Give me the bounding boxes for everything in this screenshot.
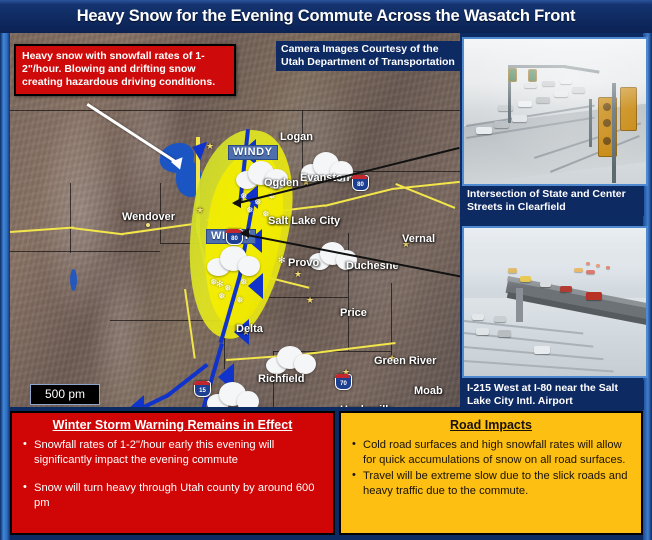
city-label-delta: Delta [236, 323, 263, 335]
windy-tag: WINDY [228, 145, 278, 160]
city-label-logan: Logan [280, 131, 313, 143]
header-bar: Heavy Snow for the Evening Commute Acros… [0, 0, 652, 33]
shield-cap [194, 381, 209, 385]
sevier-lake [70, 269, 77, 291]
shield-number: 80 [231, 236, 238, 242]
warning-bullet-list: Snowfall rates of 1-2"/hour early this e… [18, 438, 327, 510]
shield-number: 80 [357, 182, 364, 188]
snow-haze [464, 39, 646, 184]
shield-number: 70 [340, 381, 347, 387]
city-label-moab: Moab [414, 385, 443, 397]
city-label-salt-lake-city: Salt Lake City [268, 215, 340, 227]
valid-time-stamp: 500 pm [30, 384, 100, 405]
list-item: Snowfall rates of 1-2"/hour early this e… [18, 438, 327, 467]
city-label-wendover: Wendover [122, 211, 175, 223]
city-label-price: Price [340, 307, 367, 319]
vehicle [472, 314, 484, 320]
vehicle [476, 328, 489, 335]
shield-cap [226, 229, 241, 233]
overpass-pier [516, 288, 523, 322]
city-label-hanksville: Hanksville [340, 404, 394, 407]
snowflake-icon: ❅ [218, 291, 226, 302]
snow-cloud-icon [206, 245, 262, 277]
shield-number: 15 [199, 388, 206, 394]
list-item: Snow will turn heavy through Utah county… [18, 481, 327, 510]
snow-haze [464, 228, 646, 288]
list-item: Cold road surfaces and high snowfall rat… [347, 438, 635, 467]
warning-panel-title: Winter Storm Warning Remains in Effect [18, 418, 327, 432]
vehicle [494, 316, 506, 322]
city-marker [146, 223, 150, 227]
county-border [391, 283, 392, 363]
impacts-bullet-list: Cold road surfaces and high snowfall rat… [347, 438, 635, 498]
road-impacts-panel: Road Impacts Cold road surfaces and high… [339, 411, 643, 535]
camera-pointer-head [232, 198, 241, 208]
snowflake-icon: ❅ [240, 277, 248, 288]
list-item: Travel will be extreme slow due to the s… [347, 469, 635, 498]
snowflake-icon: ❅ [246, 205, 254, 216]
impacts-panel-title: Road Impacts [347, 418, 635, 432]
heavy-snow-callout: Heavy snow with snowfall rates of 1-2"/h… [14, 44, 236, 96]
interstate-shield-15: 15 [194, 381, 211, 397]
camera-courtesy-caption: Camera Images Courtesy of the Utah Depar… [276, 41, 468, 71]
camera-pointer-head [240, 228, 249, 238]
interstate-shield-70: 70 [335, 374, 352, 390]
county-border [70, 183, 71, 253]
webcam-i215[interactable] [462, 226, 648, 378]
page-title: Heavy Snow for the Evening Commute Acros… [77, 7, 576, 26]
city-label-provo: Provo [288, 257, 319, 269]
city-marker: ★ [306, 295, 314, 306]
city-marker: ★ [206, 141, 214, 152]
vehicle [498, 330, 511, 337]
webcam-clearfield[interactable] [462, 37, 648, 186]
snowflake-icon: ✻ [216, 279, 224, 290]
shield-cap [352, 175, 367, 179]
left-accent-strip [0, 0, 10, 540]
snowflake-icon: ✻ [278, 255, 286, 266]
city-label-richfield: Richfield [258, 373, 304, 385]
shield-cap [335, 374, 350, 378]
webcam-i215-caption: I-215 West at I-80 near the Salt Lake Ci… [462, 380, 644, 410]
vehicle [534, 346, 550, 354]
city-label-green-river: Green River [374, 355, 436, 367]
interstate-shield-80: 80 [352, 175, 369, 191]
city-label-vernal: Vernal [402, 233, 435, 245]
state-border [10, 110, 460, 111]
city-marker: ★ [294, 269, 302, 280]
weather-graphic-slide: Heavy Snow for the Evening Commute Acros… [0, 0, 652, 540]
snowflake-icon: ❅ [236, 295, 244, 306]
snow-cloud-icon [206, 381, 260, 407]
snow-cloud-icon [265, 345, 317, 375]
county-border [10, 251, 160, 252]
webcam-clearfield-caption: Intersection of State and Center Streets… [462, 186, 644, 216]
vehicle [586, 292, 602, 300]
city-marker: ★ [196, 205, 204, 216]
winter-storm-warning-panel: Winter Storm Warning Remains in Effect S… [10, 411, 335, 535]
